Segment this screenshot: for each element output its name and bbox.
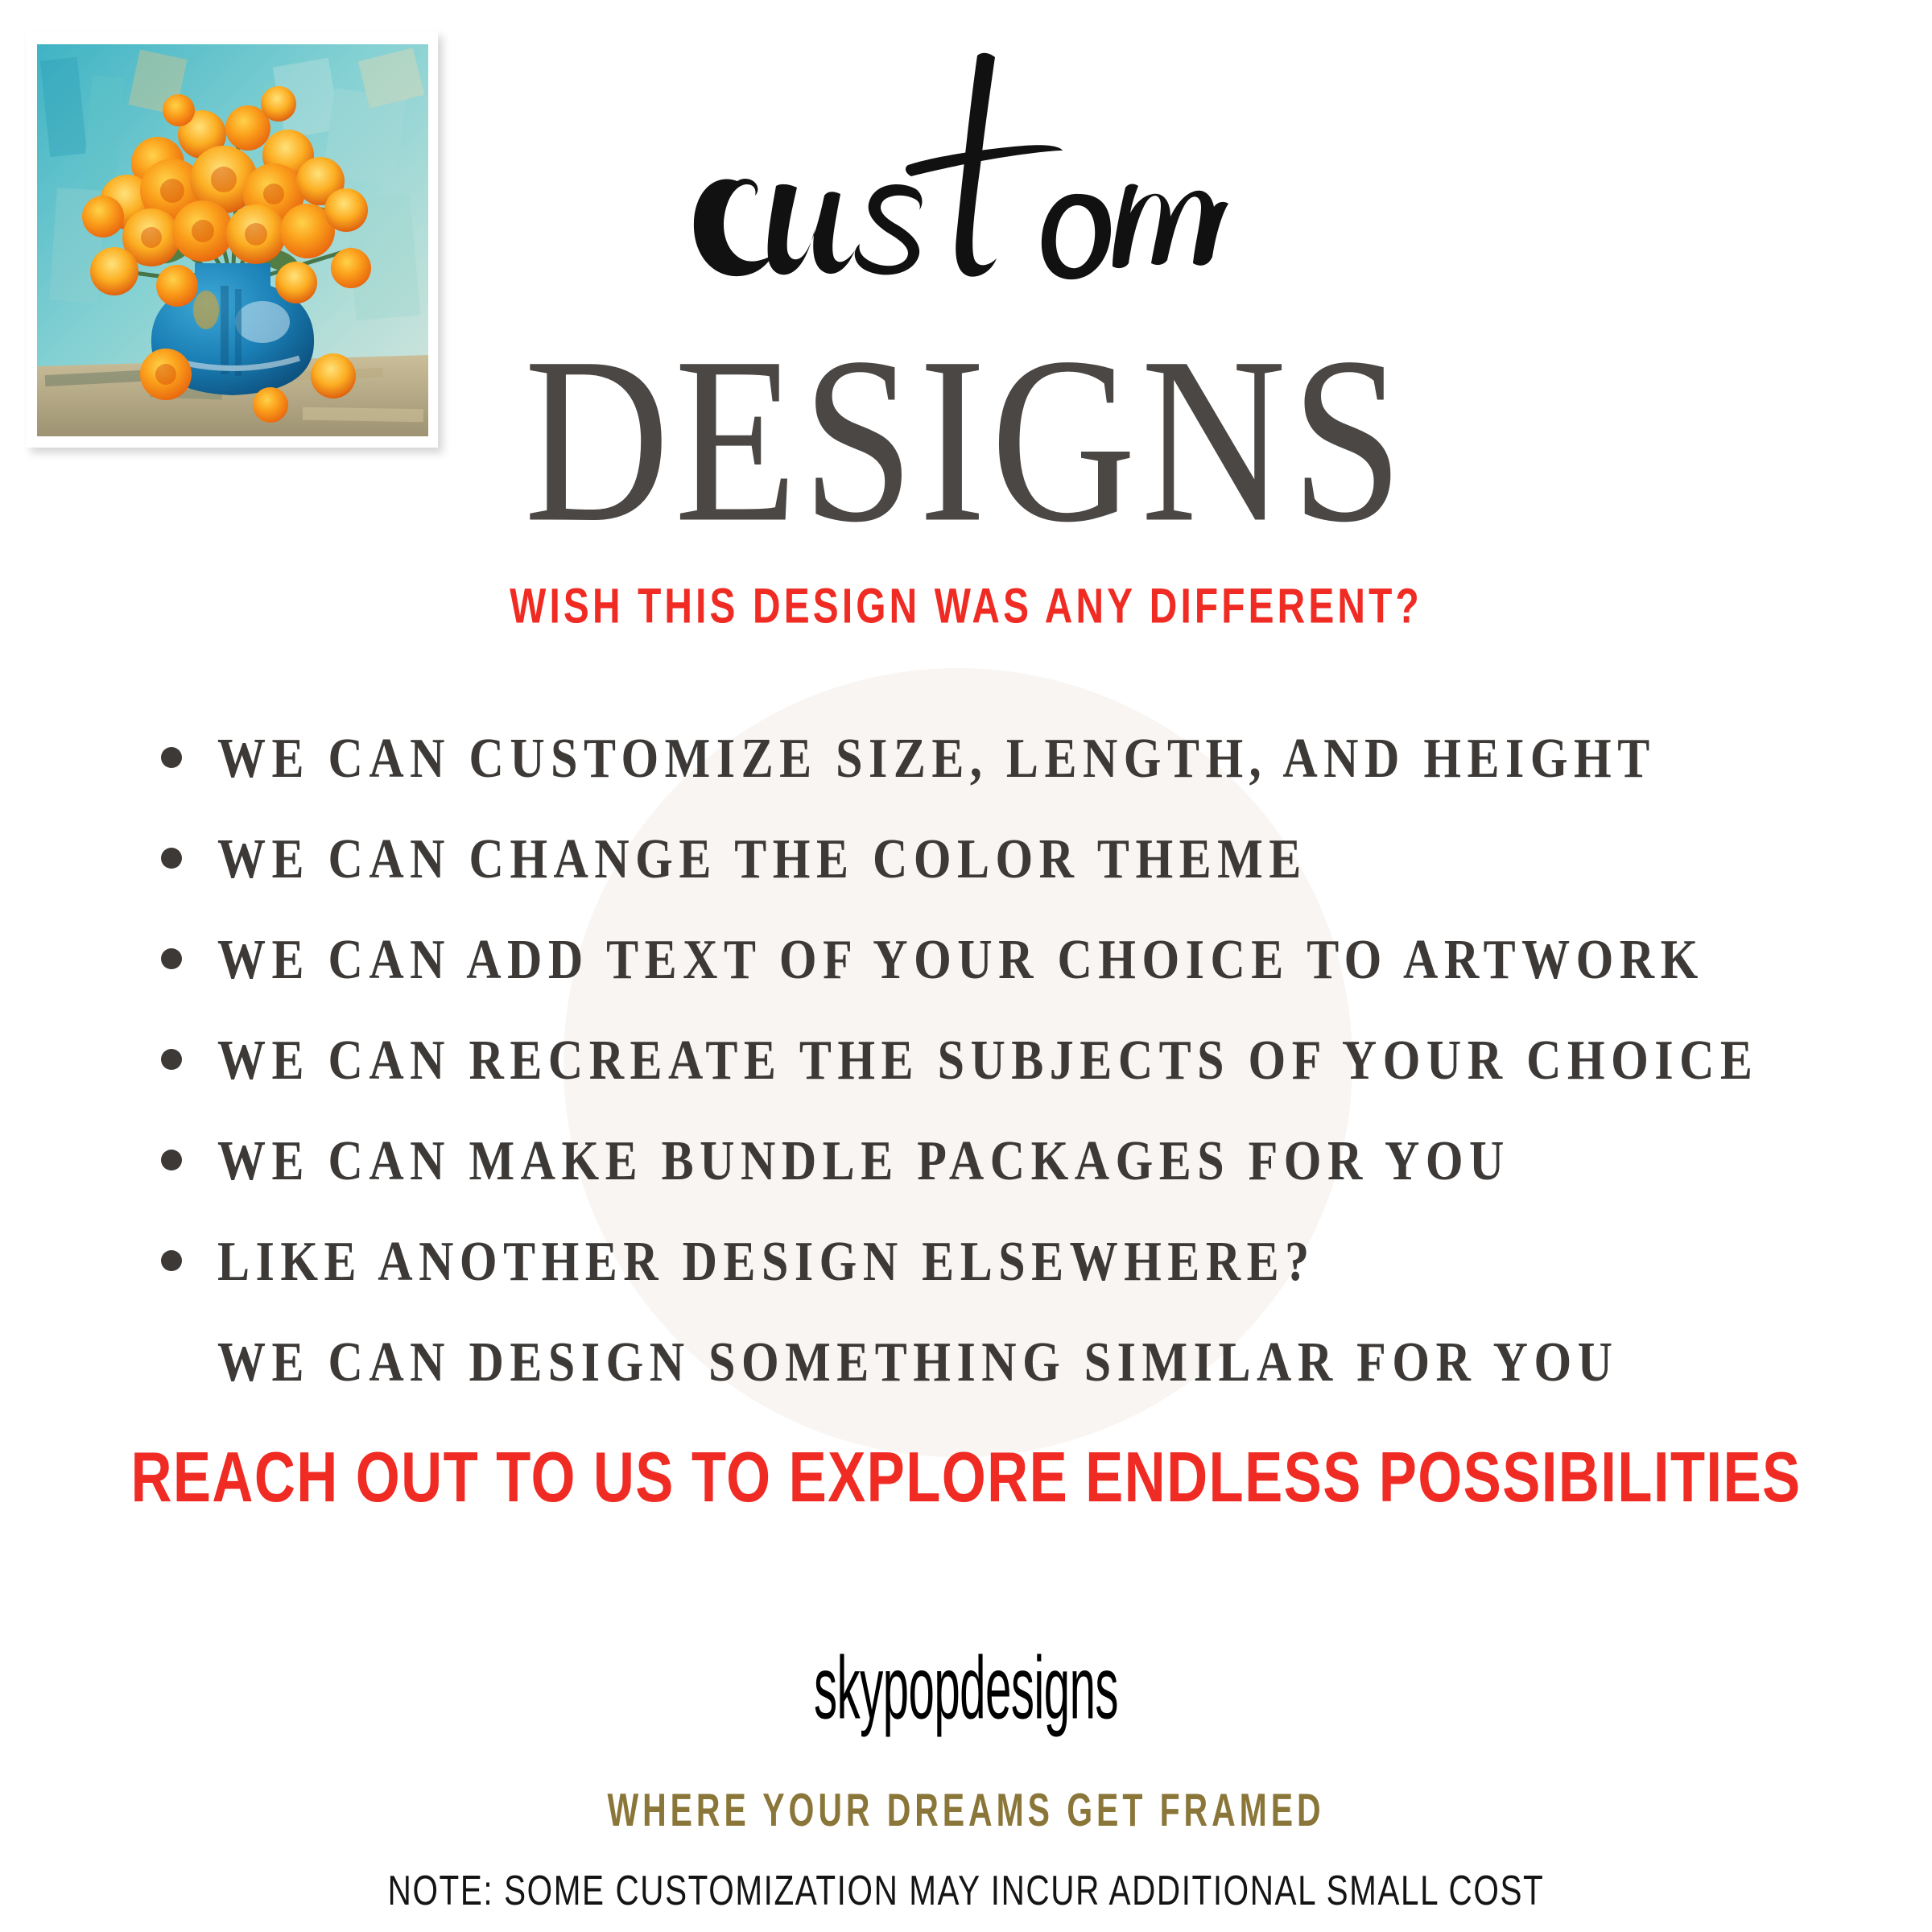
bullet-icon bbox=[161, 747, 182, 768]
script-custom-wordmark bbox=[660, 44, 1240, 310]
bullet-icon bbox=[161, 1049, 182, 1070]
list-item: WE CAN MAKE BUNDLE PACKAGES FOR YOU bbox=[0, 1111, 1932, 1212]
subtitle-question: WISH THIS DESIGN WAS ANY DIFFERENT? bbox=[77, 578, 1855, 635]
benefit-label: WE CAN DESIGN SOMETHING SIMILAR FOR YOU bbox=[217, 1330, 1618, 1394]
list-item: WE CAN ADD TEXT OF YOUR CHOICE TO ARTWOR… bbox=[0, 910, 1932, 1010]
page-title: DESIGNS bbox=[0, 322, 1932, 559]
benefit-label: WE CAN RECREATE THE SUBJECTS OF YOUR CHO… bbox=[217, 1028, 1758, 1092]
bullet-icon bbox=[161, 1150, 182, 1170]
list-item: WE CAN CUSTOMIZE SIZE, LENGTH, AND HEIGH… bbox=[0, 708, 1932, 809]
bullet-icon bbox=[161, 1250, 182, 1271]
benefit-label: WE CAN CHANGE THE COLOR THEME bbox=[217, 827, 1307, 891]
benefit-label: LIKE ANOTHER DESIGN ELSEWHERE? bbox=[217, 1229, 1315, 1294]
brand-tagline: WHERE YOUR DREAMS GET FRAMED bbox=[174, 1783, 1758, 1837]
list-item-continuation: WE CAN DESIGN SOMETHING SIMILAR FOR YOU bbox=[0, 1312, 1932, 1413]
custom-designs-poster: DESIGNS WISH THIS DESIGN WAS ANY DIFFERE… bbox=[0, 0, 1932, 1932]
list-item: LIKE ANOTHER DESIGN ELSEWHERE? bbox=[0, 1212, 1932, 1312]
call-to-action-text[interactable]: REACH OUT TO US TO EXPLORE ENDLESS POSSI… bbox=[68, 1437, 1864, 1518]
benefit-label: WE CAN CUSTOMIZE SIZE, LENGTH, AND HEIGH… bbox=[217, 726, 1656, 791]
brand-logo-text: skypopdesigns bbox=[425, 1638, 1507, 1740]
benefits-list: WE CAN CUSTOMIZE SIZE, LENGTH, AND HEIGH… bbox=[0, 708, 1932, 1413]
footer-note: NOTE: SOME CUSTOMIZATION MAY INCUR ADDIT… bbox=[116, 1866, 1816, 1914]
list-item: WE CAN RECREATE THE SUBJECTS OF YOUR CHO… bbox=[0, 1010, 1932, 1111]
bullet-icon bbox=[161, 848, 182, 869]
benefit-label: WE CAN MAKE BUNDLE PACKAGES FOR YOU bbox=[217, 1129, 1510, 1193]
benefit-label: WE CAN ADD TEXT OF YOUR CHOICE TO ARTWOR… bbox=[217, 927, 1704, 992]
bullet-icon bbox=[161, 948, 182, 969]
list-item: WE CAN CHANGE THE COLOR THEME bbox=[0, 809, 1932, 910]
